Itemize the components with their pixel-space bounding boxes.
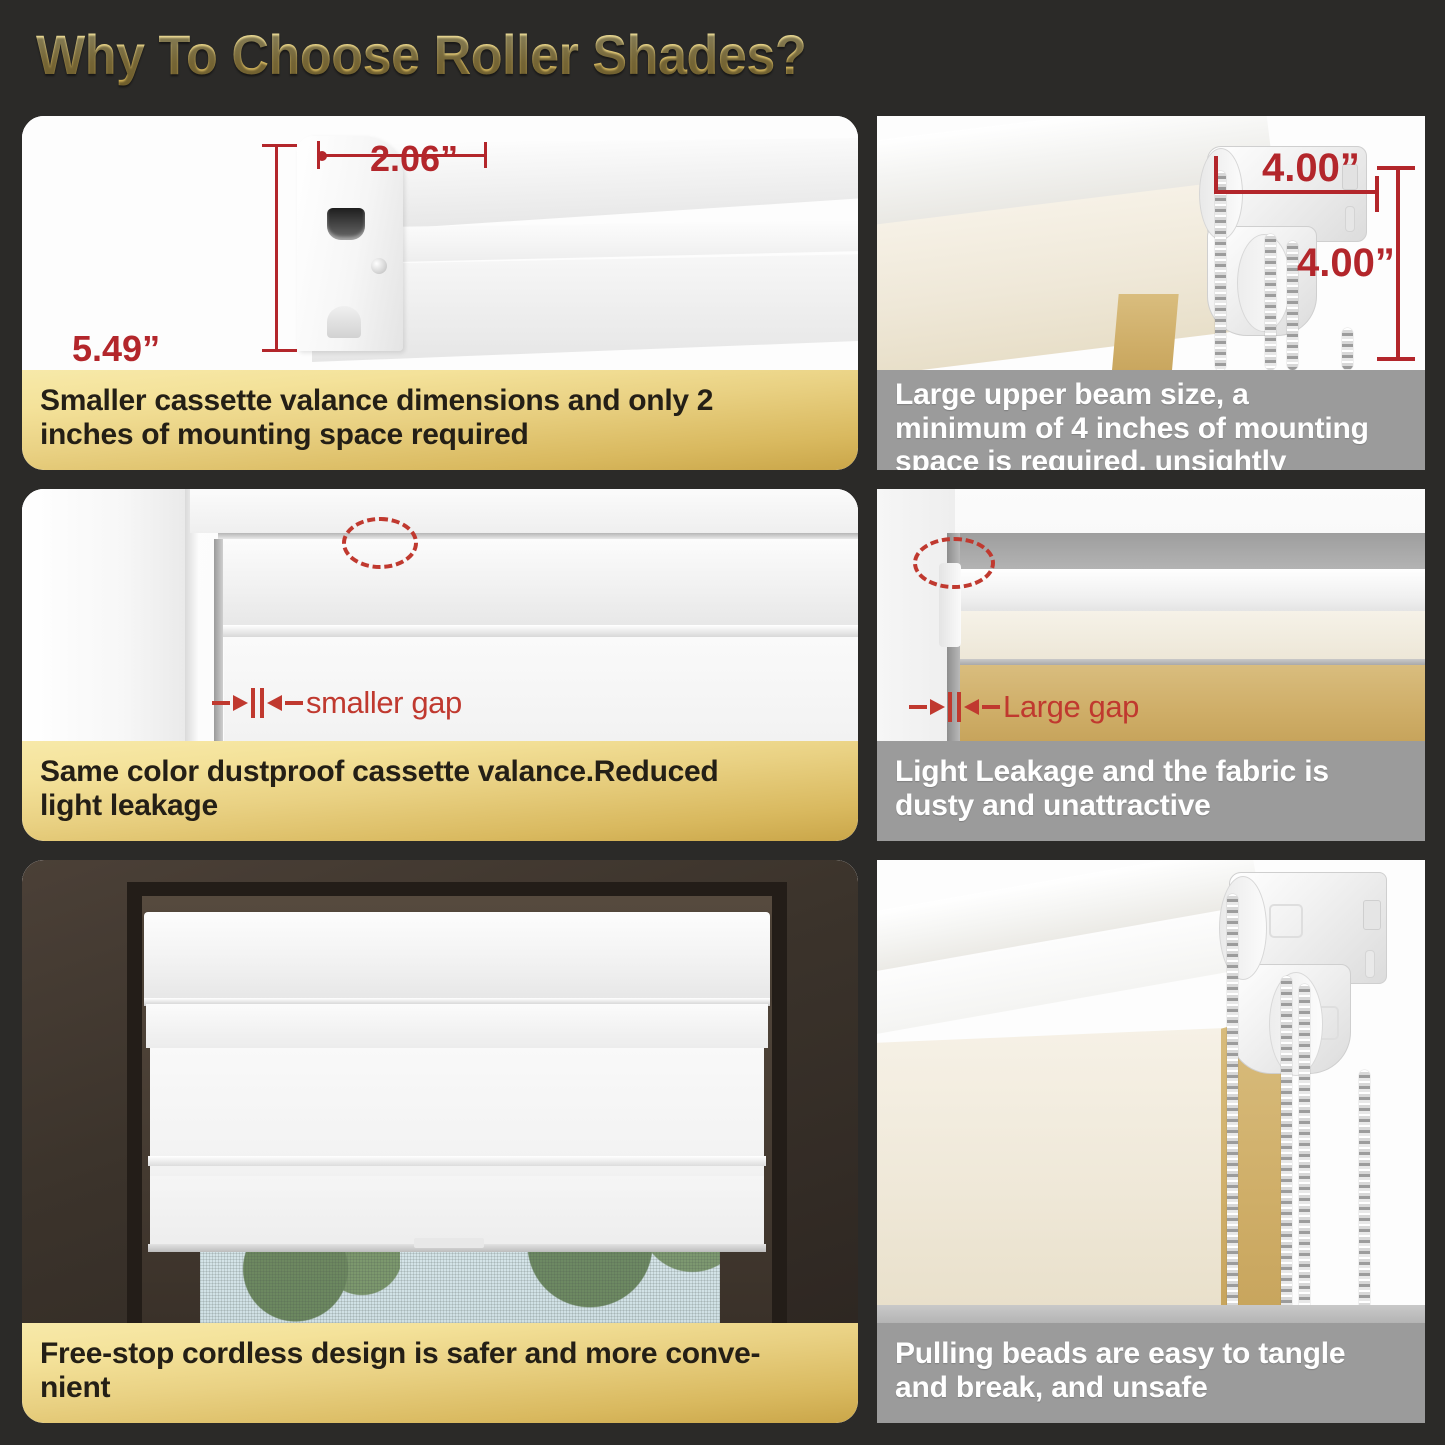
floor-shadow-band <box>877 1305 1425 1323</box>
hanging-bead-chain-1 <box>1227 894 1238 1323</box>
panel-light-leakage: Large gap Light Leakage and the fabric i… <box>877 489 1425 841</box>
bead-chain-4 <box>1342 328 1353 370</box>
panel-3-caption: Same color dustproof cassette valance.Re… <box>22 741 858 841</box>
cassette-valance-face <box>222 539 858 627</box>
panel-5-image <box>22 860 858 1323</box>
roller-end-disc-lower <box>1237 234 1291 332</box>
panel-2-caption-line1: Large upper beam size, a <box>895 378 1369 412</box>
bracket-slot-icon-2 <box>1345 206 1355 232</box>
bottom-rail <box>148 1156 766 1166</box>
large-gap-annotation: Large gap <box>909 689 1139 725</box>
smaller-gap-label: smaller gap <box>306 685 462 721</box>
end-cap-bracket-icon <box>327 306 361 338</box>
large-gap-arrow-left-icon <box>964 699 979 715</box>
large-gap-highlight-ellipse <box>913 537 995 589</box>
panel-pulling-beads: Pulling beads are easy to tangle and bre… <box>877 860 1425 1423</box>
panel-5-caption-line1: Free-stop cordless design is safer and m… <box>40 1337 760 1371</box>
beam-height-tick-top <box>1377 166 1415 170</box>
beam-height-label: 4.00” <box>1297 241 1395 286</box>
gap-arrow-right-icon <box>233 695 248 711</box>
infographic-root: Why To Choose Roller Shades? 2.06” 5.49” <box>0 0 1445 1445</box>
width-dim-tick-left <box>317 141 320 169</box>
bracket-tab-icon-2 <box>1365 950 1375 978</box>
panel-1-caption-line2: inches of mounting space required <box>40 418 713 452</box>
panel-2-caption-line3: space is required, unsightly <box>895 445 1369 470</box>
panel-6-image <box>877 860 1425 1323</box>
valance-lip <box>220 625 858 637</box>
end-cap-slot-icon <box>327 208 365 240</box>
header-rail <box>955 569 1425 617</box>
height-dim-line <box>275 144 278 352</box>
panel-6-caption: Pulling beads are easy to tangle and bre… <box>877 1323 1425 1423</box>
gap-arrow-tail-right <box>285 701 303 705</box>
bracket-tab-icon <box>1363 900 1381 930</box>
large-gap-label: Large gap <box>1003 689 1139 725</box>
panel-4-caption: Light Leakage and the fabric is dusty an… <box>877 741 1425 841</box>
large-gap-tail-left <box>909 705 927 709</box>
panel-smaller-cassette: 2.06” 5.49” Smaller cassette valance dim… <box>22 116 858 470</box>
beam-height-dim-line <box>1396 166 1400 361</box>
panel-5-caption-line2: nient <box>40 1371 760 1405</box>
panel-4-image: Large gap <box>877 489 1425 741</box>
beam-width-tick-right <box>1375 176 1379 212</box>
panel-2-image: 4.00” 4.00” <box>877 116 1425 370</box>
panel-2-caption: Large upper beam size, a minimum of 4 in… <box>877 370 1425 470</box>
panel-1-image: 2.06” 5.49” <box>22 116 858 370</box>
bracket-arrow-icon <box>1269 904 1303 938</box>
panel-large-beam: 4.00” 4.00” Large upper beam size, a min… <box>877 116 1425 470</box>
panel-3-image: smaller gap <box>22 489 858 741</box>
smaller-gap-annotation: smaller gap <box>212 685 462 721</box>
beam-width-label: 4.00” <box>1262 146 1360 191</box>
window-casing-left <box>22 489 190 741</box>
panel-5-caption: Free-stop cordless design is safer and m… <box>22 1323 858 1423</box>
window-casing-top <box>190 489 858 533</box>
brand-tab <box>414 1238 484 1248</box>
end-cap-screw-icon <box>371 258 387 274</box>
panel-3-caption-line1: Same color dustproof cassette valance.Re… <box>40 755 718 789</box>
panel-4-caption-line2: dusty and unattractive <box>895 789 1329 823</box>
hanging-bead-chain-3 <box>1299 984 1310 1323</box>
large-gap-arrow-right-icon <box>930 699 945 715</box>
page-title: Why To Choose Roller Shades? <box>36 22 806 87</box>
width-dim-tick-right <box>484 142 487 168</box>
valance-lower-band <box>955 611 1425 663</box>
gap-measure-bars <box>251 688 264 718</box>
height-dim-label: 5.49” <box>72 328 160 370</box>
header-shadow-band <box>955 533 1425 573</box>
valance-bottom-curve <box>146 1004 768 1048</box>
width-dim-label: 2.06” <box>370 138 458 180</box>
panel-dustproof-valance: smaller gap Same color dustproof cassett… <box>22 489 858 841</box>
height-dim-tick-bottom <box>262 349 297 352</box>
bead-roller-disc-lower <box>1269 972 1323 1076</box>
panel-cordless-design: Free-stop cordless design is safer and m… <box>22 860 858 1423</box>
gap-highlight-ellipse <box>342 517 418 569</box>
panel-2-caption-line2: minimum of 4 inches of mounting <box>895 412 1369 446</box>
bead-chain-2 <box>1265 234 1276 370</box>
large-gap-tail-right <box>982 705 1000 709</box>
panel-4-caption-line1: Light Leakage and the fabric is <box>895 755 1329 789</box>
panel-6-caption-line2: and break, and unsafe <box>895 1371 1345 1405</box>
panel-1-caption-line1: Smaller cassette valance dimensions and … <box>40 384 713 418</box>
panel-1-caption: Smaller cassette valance dimensions and … <box>22 370 858 470</box>
panel-3-caption-line2: light leakage <box>40 789 718 823</box>
bead-chain-1 <box>1215 171 1226 370</box>
bead-shade-fabric-beige <box>877 1028 1225 1323</box>
panel-6-caption-line1: Pulling beads are easy to tangle <box>895 1337 1345 1371</box>
beam-height-tick-bottom <box>1377 357 1415 361</box>
hanging-bead-chain-2 <box>1281 976 1292 1323</box>
height-dim-tick-top <box>262 144 297 147</box>
beam-width-tick-left <box>1214 156 1218 192</box>
gap-arrow-tail-left <box>212 701 230 705</box>
large-gap-measure-bars <box>948 692 961 722</box>
cordless-valance <box>144 912 770 1002</box>
shade-fabric-back <box>1111 294 1178 370</box>
hanging-bead-chain-4 <box>1359 1070 1370 1323</box>
gap-arrow-left-icon <box>267 695 282 711</box>
